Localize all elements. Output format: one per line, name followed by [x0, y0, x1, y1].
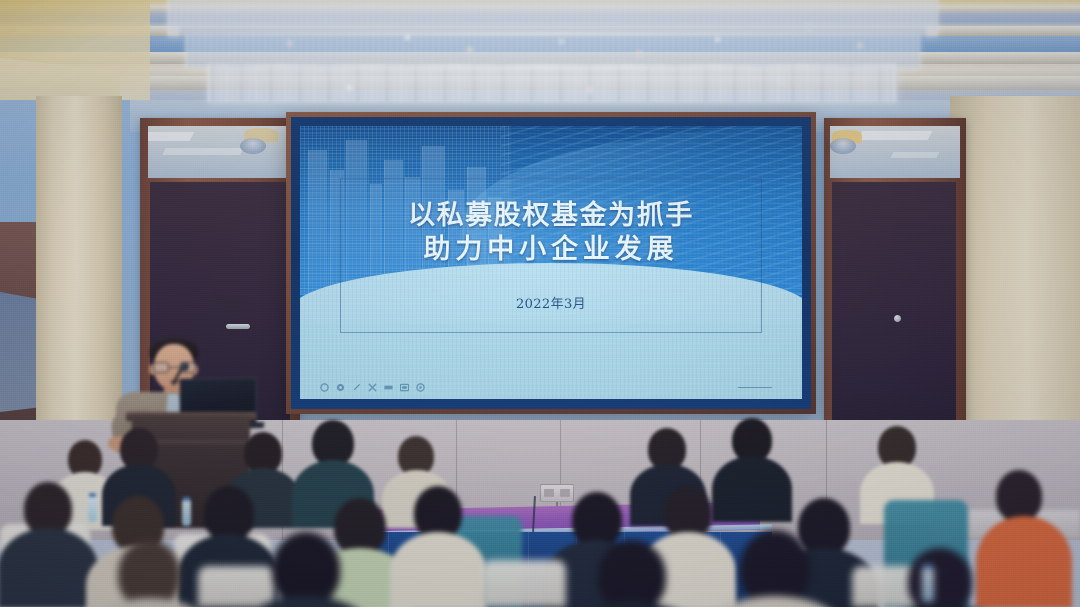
chandelier-tier — [186, 34, 920, 68]
water-bottle — [922, 568, 934, 602]
chair — [482, 560, 566, 607]
chandelier — [168, 0, 938, 108]
chair — [198, 566, 274, 607]
conference-photo: 以私募股权基金为抓手 助力中小企业发展 2022年3月 — [0, 0, 1080, 607]
chandelier-tier — [208, 64, 898, 102]
bottle-cap — [923, 564, 932, 569]
